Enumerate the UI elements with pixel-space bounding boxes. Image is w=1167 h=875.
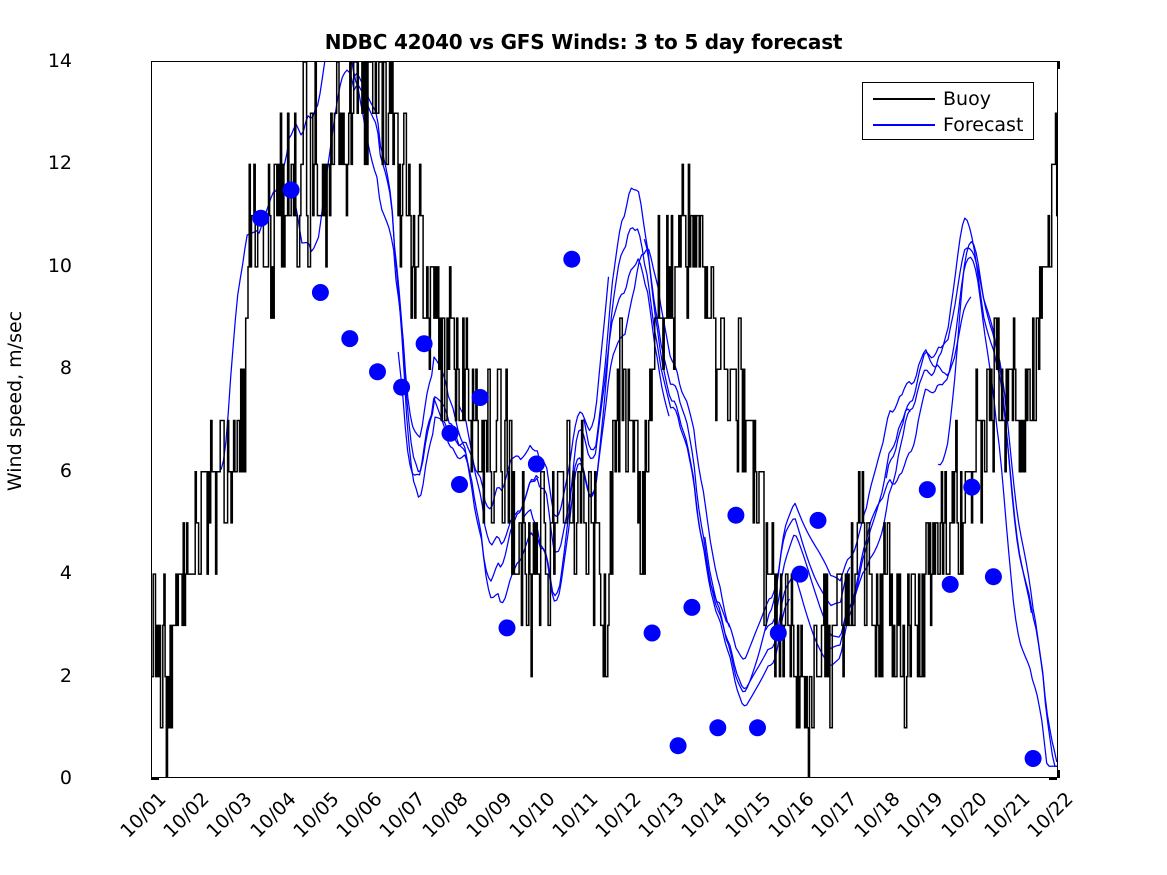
verification-marker [393, 379, 410, 396]
y-tick-label: 4 [12, 562, 72, 584]
verification-marker [919, 481, 936, 498]
plot-svg [152, 62, 1058, 778]
legend-item-forecast: Forecast [863, 112, 1035, 138]
forecast-run-7 [584, 188, 850, 659]
verification-markers [252, 182, 1041, 768]
verification-marker [791, 566, 808, 583]
verification-marker [942, 576, 959, 593]
legend-label: Forecast [943, 112, 1023, 138]
verification-marker [283, 182, 300, 199]
buoy-series [152, 62, 1058, 778]
verification-marker [1025, 750, 1042, 767]
verification-marker [985, 568, 1002, 585]
legend-label: Buoy [943, 86, 991, 112]
verification-marker [442, 425, 459, 442]
chart-legend: BuoyForecast [862, 82, 1034, 140]
x-tick-mark [1058, 61, 1060, 69]
x-tick-mark [1058, 770, 1060, 778]
chart-canvas: NDBC 42040 vs GFS Winds: 3 to 5 day fore… [0, 0, 1167, 875]
verification-marker [252, 210, 269, 227]
chart-title: NDBC 42040 vs GFS Winds: 3 to 5 day fore… [0, 30, 1167, 54]
verification-marker [416, 335, 433, 352]
plot-area [151, 61, 1058, 778]
verification-marker [727, 507, 744, 524]
verification-marker [528, 456, 545, 473]
verification-marker [683, 599, 700, 616]
verification-marker [670, 737, 687, 754]
y-tick-label: 2 [12, 665, 72, 687]
verification-marker [472, 389, 489, 406]
verification-marker [499, 619, 516, 636]
forecast-run-1 [221, 70, 470, 476]
y-tick-label: 14 [12, 50, 72, 72]
verification-marker [312, 284, 329, 301]
verification-marker [451, 476, 468, 493]
y-tick-mark [1049, 778, 1057, 780]
verification-marker [709, 719, 726, 736]
y-tick-label: 8 [12, 357, 72, 379]
y-tick-label: 10 [12, 255, 72, 277]
verification-marker [770, 625, 787, 642]
verification-marker [369, 363, 386, 380]
y-axis-title: Wind speed, m/sec [4, 121, 26, 681]
verification-marker [963, 479, 980, 496]
y-tick-label: 12 [12, 152, 72, 174]
legend-item-buoy: Buoy [863, 86, 1035, 112]
verification-marker [563, 251, 580, 268]
verification-marker [749, 719, 766, 736]
y-tick-label: 0 [12, 767, 72, 789]
verification-marker [810, 512, 827, 529]
buoy-line [152, 62, 1058, 778]
y-tick-label: 6 [12, 460, 72, 482]
y-tick-mark [151, 778, 159, 780]
verification-marker [341, 330, 358, 347]
verification-marker [644, 625, 661, 642]
legend-swatch-line [873, 98, 935, 100]
legend-swatch-line [873, 124, 935, 126]
